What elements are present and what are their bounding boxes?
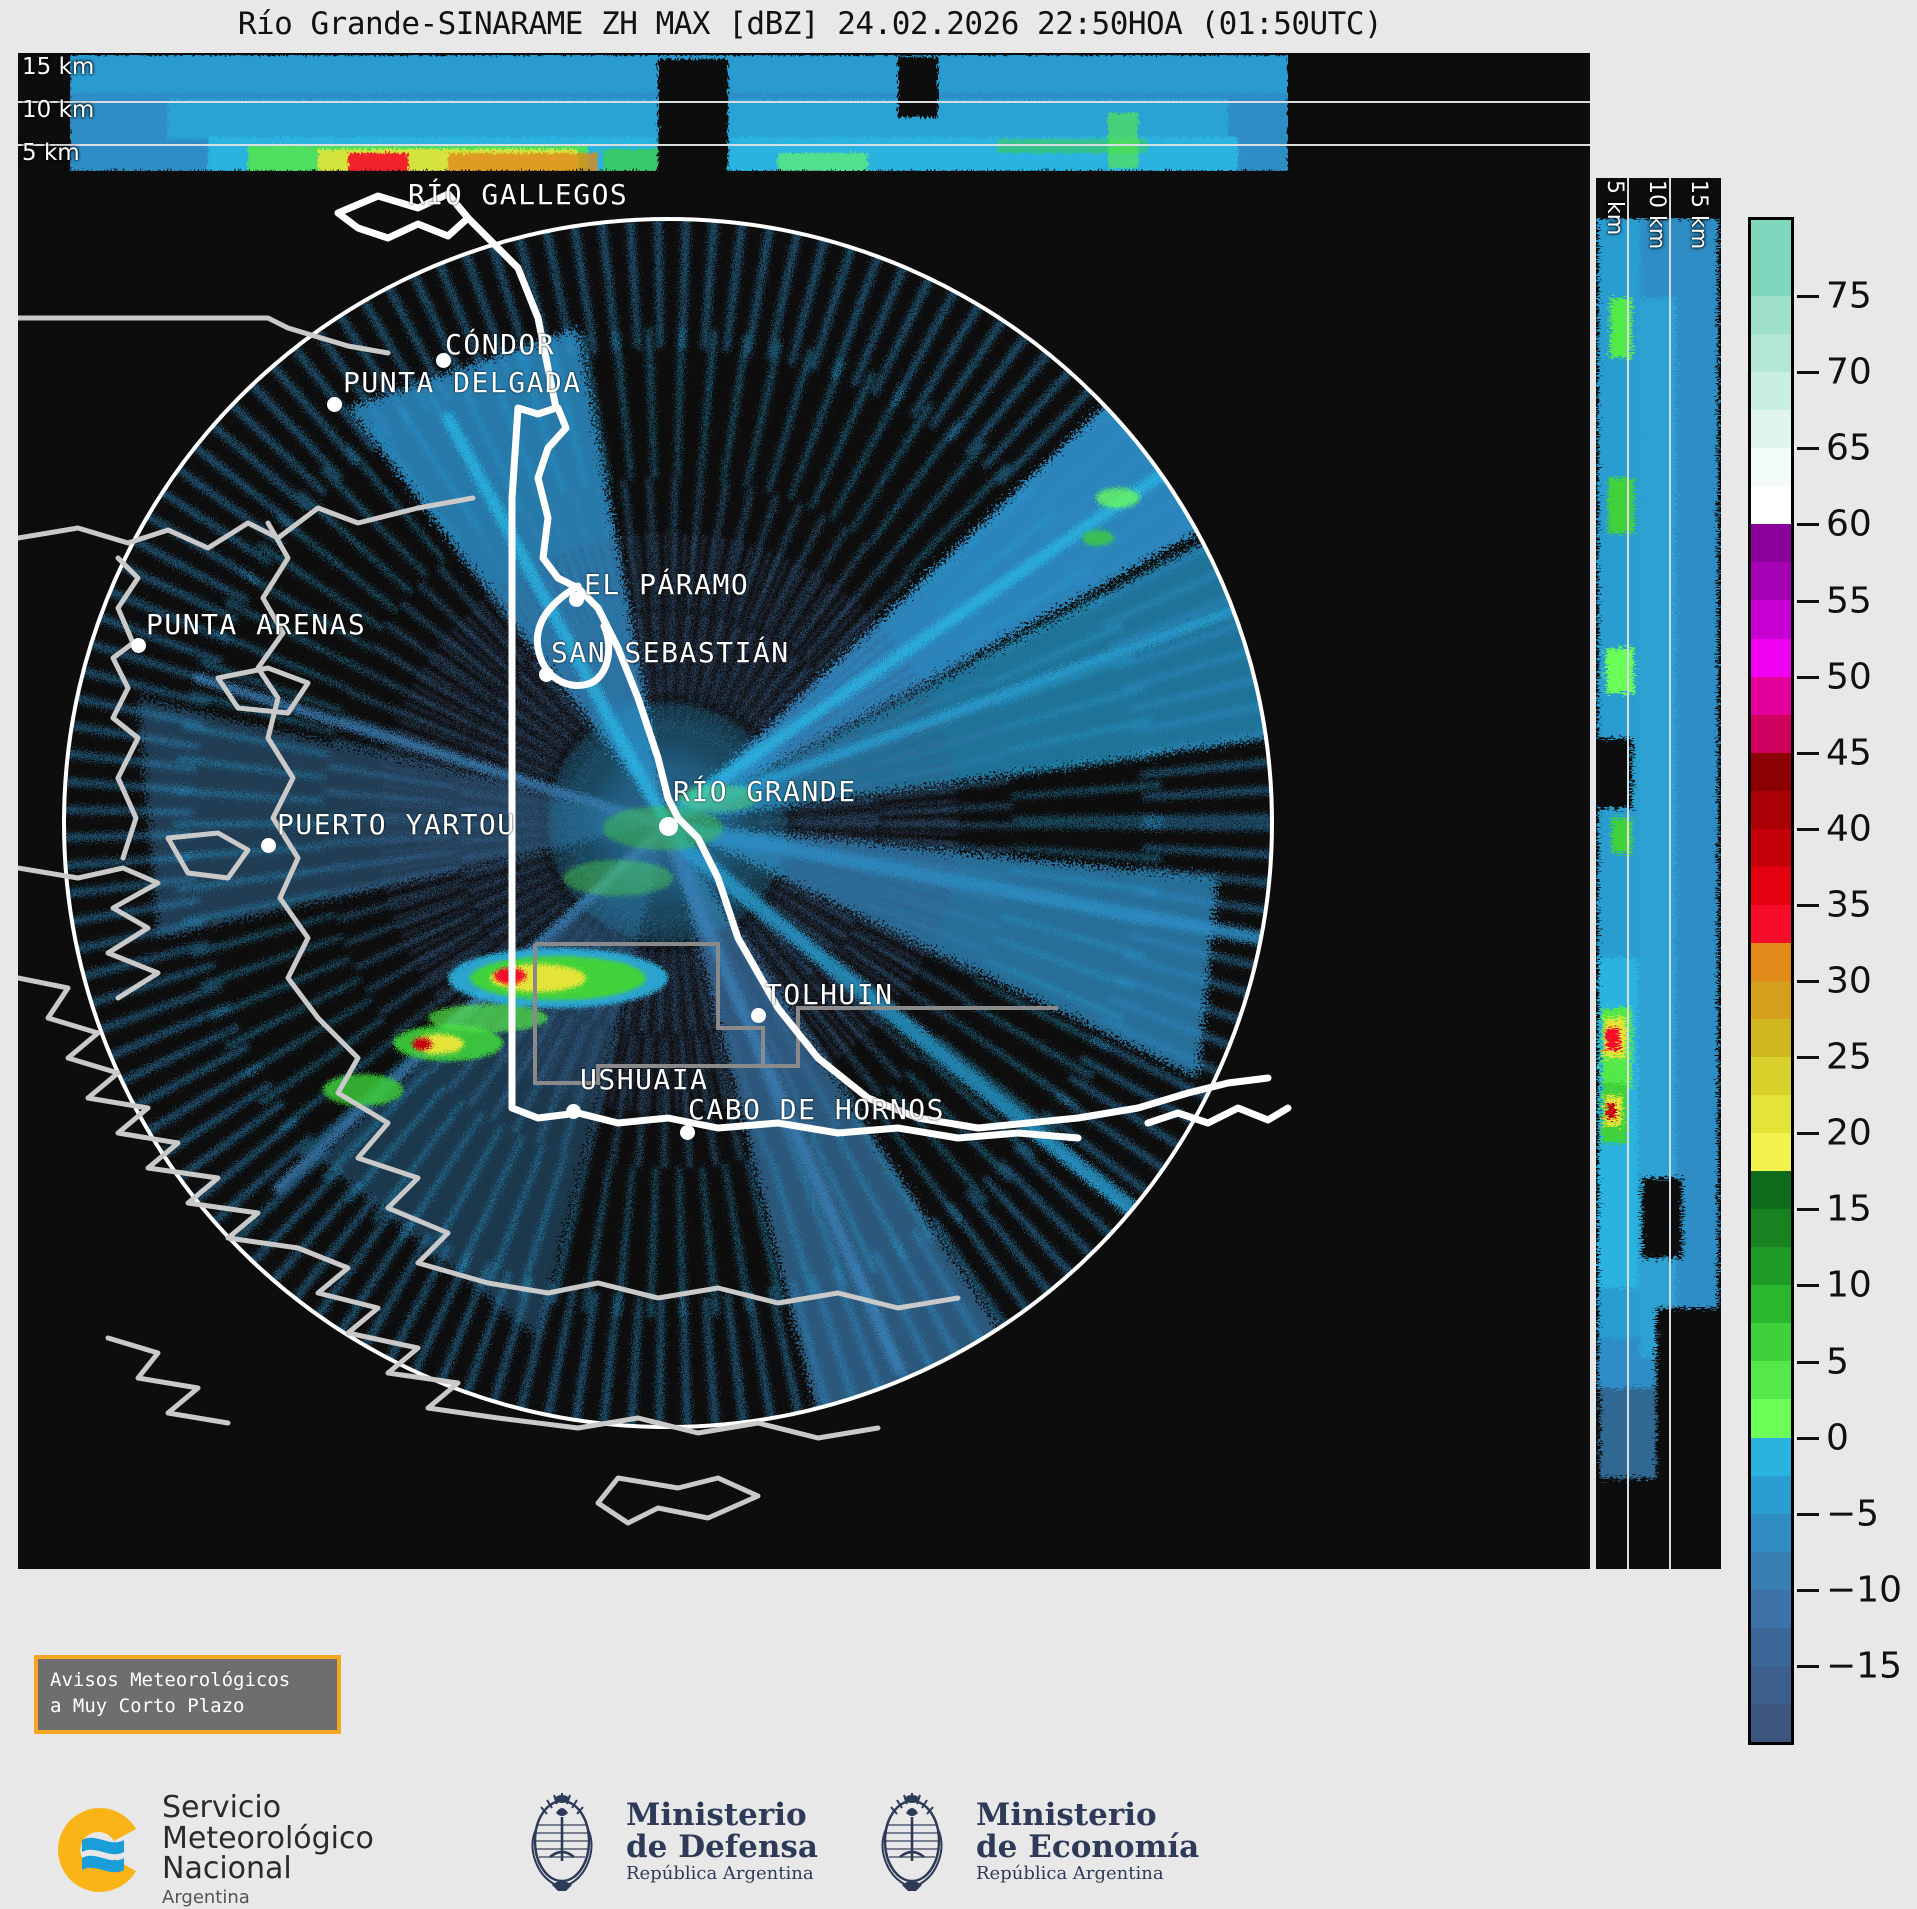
gridline-10km-v	[1669, 178, 1671, 1569]
colorbar-tick-label: 20	[1826, 1113, 1872, 1154]
height-label-10km-v: 10 km	[1644, 180, 1669, 249]
city-label-ushuaia: USHUAIA	[580, 1063, 709, 1096]
colorbar-tick-label: 35	[1826, 884, 1872, 925]
radar-map-panel[interactable]: RÍO GALLEGOS CÓNDOR PUNTA DELGADA EL PÁR…	[18, 178, 1590, 1569]
footer: Servicio Meteorológico Nacional Argentin…	[0, 1775, 1917, 1909]
colorbar-segment	[1751, 867, 1791, 905]
colorbar-tick-label: 5	[1826, 1341, 1849, 1382]
smn-line-2: Meteorológico	[162, 1824, 374, 1855]
colorbar-tick	[1797, 447, 1819, 450]
city-label-punta-delgada: PUNTA DELGADA	[343, 366, 582, 399]
colorbar-segment	[1751, 448, 1791, 486]
colorbar-segment	[1751, 410, 1791, 448]
smn-logo-icon	[52, 1802, 148, 1898]
page-title: Río Grande-SINARAME ZH MAX [dBZ] 24.02.2…	[0, 6, 1620, 42]
cross-section-right-panel: 5 km 10 km 15 km	[1596, 178, 1721, 1569]
smn-logo: Servicio Meteorológico Nacional Argentin…	[52, 1793, 374, 1907]
colorbar-tick	[1797, 295, 1819, 298]
gridline-5km	[18, 144, 1590, 146]
city-dot-punta-arenas	[131, 638, 146, 653]
colorbar-segment	[1751, 258, 1791, 296]
colorbar-segment	[1751, 334, 1791, 372]
city-dot-san-sebastian	[539, 667, 554, 682]
colorbar-segment	[1751, 677, 1791, 715]
colorbar-segment	[1751, 600, 1791, 638]
colorbar-tick	[1797, 1208, 1819, 1211]
city-dot-cabo-de-hornos	[680, 1125, 695, 1140]
colorbar-tick-label: 70	[1826, 352, 1872, 393]
economia-line-3: República Argentina	[976, 1864, 1199, 1883]
gridline-5km-v	[1627, 178, 1629, 1569]
colorbar-segment	[1751, 753, 1791, 791]
gridline-10km	[18, 101, 1590, 103]
radar-product-page: Río Grande-SINARAME ZH MAX [dBZ] 24.02.2…	[0, 0, 1917, 1909]
city-label-el-paramo: EL PÁRAMO	[584, 568, 749, 601]
city-dot-puerto-yartou	[261, 838, 276, 853]
height-label-5km: 5 km	[22, 140, 80, 166]
colorbar-tick	[1797, 523, 1819, 526]
colorbar-tick-label: 50	[1826, 656, 1872, 697]
colorbar-segment	[1751, 943, 1791, 981]
colorbar-segment	[1751, 1476, 1791, 1514]
colorbar-segment	[1751, 715, 1791, 753]
colorbar-segment	[1751, 1019, 1791, 1057]
colorbar-segment	[1751, 1514, 1791, 1552]
colorbar-segment	[1751, 1399, 1791, 1437]
colorbar-tick	[1797, 676, 1819, 679]
colorbar-segment	[1751, 1057, 1791, 1095]
colorbar-tick-label: 15	[1826, 1189, 1872, 1230]
colorbar-segment	[1751, 981, 1791, 1019]
height-label-15km: 15 km	[22, 54, 94, 80]
city-label-condor: CÓNDOR	[445, 328, 555, 361]
warning-line-1: Avisos Meteorológicos	[50, 1668, 325, 1694]
colorbar-tick-label: −15	[1826, 1645, 1902, 1686]
colorbar-segment	[1751, 524, 1791, 562]
colorbar-segment	[1751, 1209, 1791, 1247]
colorbar-tick-label: 10	[1826, 1265, 1872, 1306]
city-dot-condor	[436, 353, 451, 368]
colorbar-segment	[1751, 1323, 1791, 1361]
colorbar-tick	[1797, 1361, 1819, 1364]
colorbar-tick	[1797, 752, 1819, 755]
colorbar-segment	[1751, 791, 1791, 829]
colorbar-tick	[1797, 1513, 1819, 1516]
warning-line-2: a Muy Corto Plazo	[50, 1694, 325, 1720]
colorbar-tick	[1797, 904, 1819, 907]
colorbar-segment	[1751, 905, 1791, 943]
colorbar-tick-label: −10	[1826, 1569, 1902, 1610]
city-dot-rio-grande	[659, 817, 678, 836]
argentina-coat-of-arms-icon-2	[862, 1787, 962, 1895]
height-label-5km-v: 5 km	[1602, 180, 1627, 235]
colorbar-segment	[1751, 1628, 1791, 1666]
colorbar-segment	[1751, 1247, 1791, 1285]
city-dot-punta-delgada	[327, 397, 342, 412]
city-dot-tolhuin	[751, 1008, 766, 1023]
colorbar-segment	[1751, 1552, 1791, 1590]
city-label-cabo-de-hornos: CABO DE HORNOS	[688, 1093, 945, 1126]
colorbar-segment	[1751, 296, 1791, 334]
colorbar-tick	[1797, 1589, 1819, 1592]
city-label-rio-gallegos: RÍO GALLEGOS	[408, 178, 628, 211]
colorbar-segment	[1751, 486, 1791, 524]
cross-section-top-panel: 15 km 10 km 5 km	[18, 53, 1590, 178]
city-label-san-sebastian: SAN SEBASTIÁN	[551, 636, 790, 669]
colorbar-tick-label: 60	[1826, 504, 1872, 545]
colorbar-tick	[1797, 1665, 1819, 1668]
colorbar-tick	[1797, 1132, 1819, 1135]
colorbar-tick	[1797, 1437, 1819, 1440]
colorbar-segment	[1751, 1590, 1791, 1628]
colorbar-segment	[1751, 1361, 1791, 1399]
defensa-line-3: República Argentina	[626, 1864, 818, 1883]
colorbar-tick	[1797, 980, 1819, 983]
colorbar-tick-label: 75	[1826, 276, 1872, 317]
colorbar-segment	[1751, 220, 1791, 258]
defensa-line-1: Ministerio	[626, 1799, 818, 1832]
city-label-puerto-yartou: PUERTO YARTOU	[277, 808, 516, 841]
colorbar-segment	[1751, 1704, 1791, 1742]
city-label-rio-grande: RÍO GRANDE	[673, 775, 857, 808]
city-label-punta-arenas: PUNTA ARENAS	[146, 608, 366, 641]
colorbar-segment	[1751, 1133, 1791, 1171]
defensa-line-2: de Defensa	[626, 1831, 818, 1864]
smn-line-4: Argentina	[162, 1889, 374, 1907]
colorbar-tick-label: 65	[1826, 428, 1872, 469]
colorbar-tick-label: 0	[1826, 1417, 1849, 1458]
colorbar-tick	[1797, 371, 1819, 374]
cross-section-top-canvas	[18, 53, 1590, 178]
smn-line-1: Servicio	[162, 1793, 374, 1824]
colorbar-segment	[1751, 1095, 1791, 1133]
smn-line-3: Nacional	[162, 1854, 374, 1885]
colorbar-segment	[1751, 1285, 1791, 1323]
colorbar-segment	[1751, 1171, 1791, 1209]
colorbar-tick-label: 55	[1826, 580, 1872, 621]
colorbar-segment	[1751, 1666, 1791, 1704]
colorbar-segment	[1751, 1438, 1791, 1476]
ministerio-economia-logo: Ministerio de Economía República Argenti…	[862, 1787, 1199, 1895]
colorbar-segment	[1751, 639, 1791, 677]
colorbar-tick	[1797, 1056, 1819, 1059]
colorbar-tick	[1797, 828, 1819, 831]
cross-section-right-canvas	[1596, 178, 1721, 1569]
city-dot-ushuaia	[566, 1104, 581, 1119]
city-label-tolhuin: TOLHUIN	[765, 978, 894, 1011]
colorbar-segment	[1751, 372, 1791, 410]
colorbar	[1748, 217, 1794, 1745]
colorbar-segment	[1751, 829, 1791, 867]
colorbar-tick-label: 40	[1826, 808, 1872, 849]
ministerio-defensa-logo: Ministerio de Defensa República Argentin…	[512, 1787, 818, 1895]
height-label-15km-v: 15 km	[1686, 180, 1711, 249]
height-label-10km: 10 km	[22, 97, 94, 123]
colorbar-tick	[1797, 600, 1819, 603]
colorbar-tick-label: 25	[1826, 1037, 1872, 1078]
colorbar-tick-label: 45	[1826, 732, 1872, 773]
economia-line-1: Ministerio	[976, 1799, 1199, 1832]
status-badge-avisos[interactable]: Avisos Meteorológicos a Muy Corto Plazo	[34, 1655, 341, 1734]
economia-line-2: de Economía	[976, 1831, 1199, 1864]
colorbar-tick	[1797, 1284, 1819, 1287]
colorbar-segment	[1751, 562, 1791, 600]
argentina-coat-of-arms-icon	[512, 1787, 612, 1895]
city-dot-el-paramo	[569, 592, 584, 607]
radar-map-canvas	[18, 178, 1590, 1569]
colorbar-tick-label: −5	[1826, 1493, 1879, 1534]
colorbar-tick-label: 30	[1826, 961, 1872, 1002]
